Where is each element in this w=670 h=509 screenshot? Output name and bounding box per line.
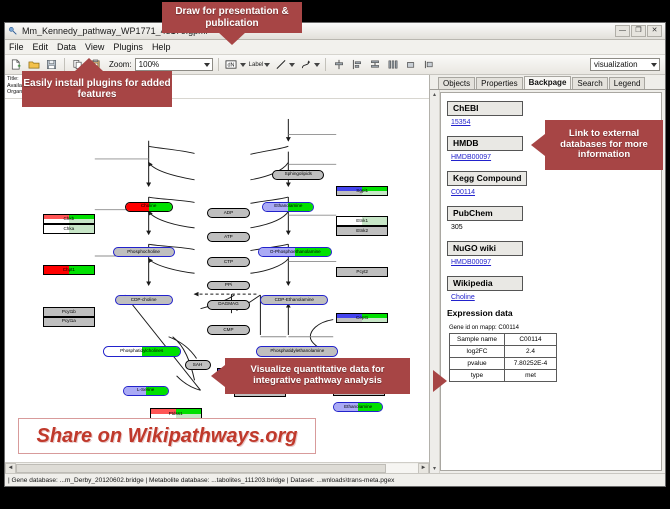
zoom-value: 100% [139, 60, 159, 69]
metabolite-node[interactable]: O-Phosphoethanolamine [258, 247, 332, 257]
zoom-combobox[interactable]: 100% [135, 58, 213, 71]
callout-databases: Link to external databases for more info… [545, 120, 663, 170]
expression-data-title: Expression data [447, 308, 655, 318]
toolbar-separator [64, 58, 65, 71]
close-button[interactable]: ✕ [647, 25, 662, 37]
row-key: type [450, 370, 505, 382]
row-value: 7.80252E-4 [505, 358, 557, 370]
chebi-header: ChEBI [447, 101, 523, 116]
table-row: pvalue 7.80252E-4 [450, 358, 557, 370]
line-tool[interactable] [273, 57, 295, 72]
row-value: met [505, 370, 557, 382]
menu-item-view[interactable]: View [85, 42, 104, 52]
spacer [447, 196, 655, 203]
node-label: ATP [224, 235, 233, 240]
node-label: CTP [224, 260, 233, 265]
node-label: Pcyt1a [62, 319, 76, 324]
node-label: PPi [225, 283, 232, 288]
metabolite-node[interactable]: Ethanolamine [333, 402, 383, 412]
spacer [447, 266, 655, 273]
maximize-button[interactable]: ❐ [631, 25, 646, 37]
callout-plugins-arrow [75, 58, 103, 71]
node-label: Phosphatidylcholines [120, 349, 163, 354]
metabolite-node[interactable]: Sphingolipids [272, 170, 324, 180]
order-icon[interactable] [421, 57, 436, 72]
nugo-link[interactable]: HMDB00097 [451, 259, 655, 266]
node-label: Ethanolamine [274, 204, 302, 209]
title-bar: Mm_Kennedy_pathway_WP1771_45176.gpml — ❐… [5, 23, 665, 40]
metabolite-node[interactable]: SAH [185, 360, 211, 370]
minimize-button[interactable]: — [615, 25, 630, 37]
node-label: Etnk2 [356, 229, 368, 234]
node-label: Phosphatidylethanolamine [270, 349, 324, 354]
table-row: type met [450, 370, 557, 382]
chevron-down-icon [651, 63, 657, 67]
datanode-tool[interactable]: dN [224, 57, 246, 72]
node-label: Pcyt1b [62, 310, 76, 315]
metabolite-node[interactable]: Ethanolamine [262, 202, 314, 212]
row-key: Sample name [450, 334, 505, 346]
scroll-up-icon[interactable]: ▴ [433, 91, 436, 98]
pubchem-header: PubChem [447, 206, 523, 221]
menu-item-data[interactable]: Data [57, 42, 76, 52]
toolbar-separator-3 [325, 58, 326, 71]
callout-draw: Draw for presentation & publication [162, 2, 302, 33]
node-label: Pcyt2 [356, 270, 368, 275]
chevron-down-icon[interactable] [264, 63, 270, 67]
table-row: log2FC 2.4 [450, 346, 557, 358]
row-key: log2FC [450, 346, 505, 358]
node-label: ADP [224, 211, 233, 216]
metabolite-node[interactable]: CDP-choline [115, 295, 173, 305]
data-node-icon[interactable]: dN [224, 57, 239, 72]
open-folder-icon[interactable] [26, 57, 41, 72]
node-label: Chkb [63, 217, 74, 222]
chevron-down-icon [204, 63, 210, 67]
scroll-left-icon[interactable]: ◄ [5, 463, 16, 474]
metabolite-node[interactable]: ADP [207, 208, 251, 218]
align-center-icon[interactable] [331, 57, 346, 72]
metabolite-node[interactable]: DAGMAG [207, 300, 251, 310]
gene-node[interactable]: Pcyt1a [43, 317, 95, 327]
node-label: Choline [141, 204, 157, 209]
save-icon[interactable] [44, 57, 59, 72]
canvas-pane: Title: Availa Organ [5, 75, 430, 473]
node-label: CDP-choline [131, 298, 157, 303]
visualization-value: visualization [594, 60, 638, 69]
node-label: Cept1 [356, 316, 368, 321]
spacer [447, 231, 655, 238]
callout-databases-arrow [531, 134, 545, 156]
node-label: L-Serine [137, 388, 154, 393]
hmdb-header: HMDB [447, 136, 523, 151]
tab-backpage[interactable]: Backpage [524, 76, 572, 89]
node-label: CDP-Ethanolamine [275, 298, 314, 303]
pathway-canvas[interactable]: SphingolipidsCholineEthanolamineADPATPPh… [5, 99, 429, 462]
row-value: 2.4 [505, 346, 557, 358]
gene-node[interactable]: Etnk1 [336, 216, 388, 226]
gene-node[interactable]: Chka [43, 224, 95, 234]
wikipedia-link[interactable]: Choline [451, 294, 655, 301]
metabolite-node[interactable]: CTP [207, 257, 251, 267]
scroll-down-icon[interactable]: ▾ [433, 465, 436, 472]
node-label: Ptdss1 [169, 412, 183, 417]
table-row: Sample name C00114 [450, 334, 557, 346]
window-controls: — ❐ ✕ [615, 25, 662, 37]
chevron-down-icon[interactable] [289, 63, 295, 67]
tab-search[interactable]: Search [572, 77, 607, 89]
status-bar-text: | Gene database: ...m_Derby_20120602.bri… [8, 477, 394, 484]
new-file-icon[interactable] [8, 57, 23, 72]
node-label: Sgpl1 [356, 189, 368, 194]
node-label: SAH [193, 363, 202, 368]
callout-visualize-arrow [211, 365, 225, 387]
menu-item-file[interactable]: File [9, 42, 24, 52]
kegg-link[interactable]: C00114 [451, 189, 655, 196]
hscroll-track[interactable] [16, 464, 418, 473]
side-pane-tabs: Objects Properties Backpage Search Legen… [430, 75, 665, 90]
gene-node[interactable]: Chkb [43, 214, 95, 224]
gene-node[interactable]: Pcyt1b [43, 307, 95, 317]
align-left-icon[interactable] [349, 57, 364, 72]
callout-databases-arrow-2 [433, 370, 447, 392]
metabolite-node[interactable]: CDP-Ethanolamine [260, 295, 328, 305]
metabolite-node[interactable]: CMP [207, 325, 251, 335]
node-label: Chpt1 [63, 268, 75, 273]
gene-node[interactable]: Etnk2 [336, 226, 388, 236]
interaction-tool[interactable] [298, 57, 320, 72]
node-label: Chka [63, 227, 74, 232]
node-label: O-Phosphoethanolamine [270, 250, 321, 255]
distribute-icon[interactable] [385, 57, 400, 72]
side-pane-vscrollbar[interactable]: ▴ ▾ [430, 90, 440, 473]
gene-node[interactable]: Sgpl1 [336, 186, 388, 196]
status-bar: | Gene database: ...m_Derby_20120602.bri… [5, 473, 665, 486]
nugo-header: NuGO wiki [447, 241, 523, 256]
node-label: Sphingolipids [285, 172, 312, 177]
chevron-down-icon[interactable] [240, 63, 246, 67]
metabolite-node[interactable]: L-Serine [123, 386, 169, 396]
node-label: Ethanolamine [344, 405, 372, 410]
tab-properties[interactable]: Properties [476, 77, 522, 89]
gene-node[interactable]: Chpt1 [43, 265, 95, 275]
pathvisio-icon [8, 26, 18, 36]
hscroll-thumb[interactable] [16, 464, 386, 473]
kegg-header: Kegg Compound [447, 171, 527, 186]
menu-item-plugins[interactable]: Plugins [113, 42, 143, 52]
gene-node[interactable]: Cept1 [336, 313, 388, 323]
callout-draw-arrow [218, 32, 246, 45]
group-icon[interactable] [403, 57, 418, 72]
node-label: Phosphocholine [127, 250, 160, 255]
interaction-icon[interactable] [298, 57, 313, 72]
gene-id-label: Gene id on mapp: C00114 [449, 325, 655, 331]
node-label: Etnk1 [356, 219, 368, 224]
metabolite-node[interactable]: Choline [125, 202, 173, 212]
tab-legend[interactable]: Legend [609, 77, 646, 89]
menu-bar: File Edit Data View Plugins Help [5, 40, 665, 55]
label-tool[interactable]: Label [249, 62, 271, 68]
node-label: CMP [223, 328, 233, 333]
wikipedia-header: Wikipedia [447, 276, 523, 291]
menu-item-edit[interactable]: Edit [33, 42, 49, 52]
pubchem-value: 305 [451, 224, 655, 231]
canvas-hscrollbar[interactable]: ◄ ► [5, 462, 429, 473]
callout-plugins: Easily install plugins for added feature… [22, 71, 172, 107]
zoom-label: Zoom: [109, 60, 132, 69]
metabolite-node[interactable]: Phosphatidylethanolamine [256, 346, 338, 357]
gene-node[interactable]: Pcyt2 [336, 267, 388, 277]
line-icon[interactable] [273, 57, 288, 72]
node-label: DAGMAG [218, 302, 238, 307]
label-tool-text: Label [249, 62, 264, 68]
tab-objects[interactable]: Objects [438, 77, 475, 89]
menu-item-help[interactable]: Help [152, 42, 171, 52]
callout-share: Share on Wikipathways.org [18, 418, 316, 454]
scroll-right-icon[interactable]: ► [418, 463, 429, 474]
expression-table: Sample name C00114 log2FC 2.4 pvalue 7.8… [449, 333, 557, 382]
metabolite-node[interactable]: ATP [207, 232, 251, 242]
stack-icon[interactable] [367, 57, 382, 72]
chevron-down-icon[interactable] [314, 63, 320, 67]
callout-visualize: Visualize quantitative data for integrat… [225, 358, 410, 394]
svg-text:dN: dN [228, 63, 235, 69]
visualization-combobox[interactable]: visualization [590, 58, 660, 71]
row-value: C00114 [505, 334, 557, 346]
toolbar-separator-2 [218, 58, 219, 71]
metabolite-node[interactable]: PPi [207, 281, 251, 291]
metabolite-node[interactable]: Phosphatidylcholines [103, 346, 181, 357]
metabolite-node[interactable]: Phosphocholine [113, 247, 175, 257]
row-key: pvalue [450, 358, 505, 370]
